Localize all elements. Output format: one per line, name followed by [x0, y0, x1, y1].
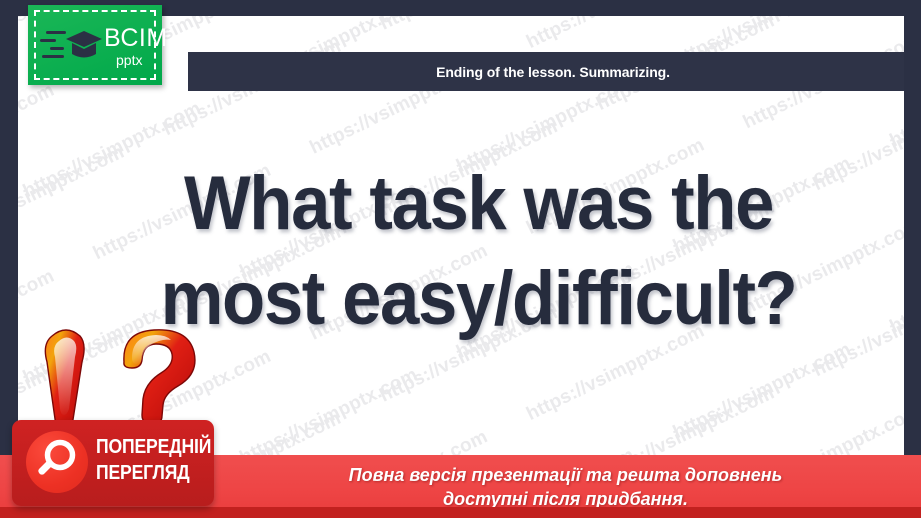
logo-suffix-text: pptx	[116, 52, 168, 68]
graduation-cap-icon	[64, 29, 104, 63]
logo-wordmark: ВСІМ pptx	[104, 25, 168, 68]
presentation-slide: https://vsimpptx.comhttps://vsimpptx.com…	[0, 0, 921, 518]
slide-title-block: What task was the most easy/difficult?	[18, 156, 904, 346]
vsimpptx-logo[interactable]: ВСІМ pptx	[28, 5, 162, 85]
preview-badge-text: ПОПЕРЕДНІЙ ПЕРЕГЛЯД	[96, 434, 195, 486]
slide-title-line-1: What task was the	[50, 156, 904, 251]
speed-lines-icon	[40, 31, 66, 63]
preview-badge-line-2: ПЕРЕГЛЯД	[96, 460, 195, 486]
banner-footer-strip	[0, 507, 921, 518]
logo-brand-text: ВСІМ	[104, 25, 168, 51]
slide-header-title: Ending of the lesson. Summarizing.	[436, 64, 670, 80]
slide-header-bar: Ending of the lesson. Summarizing.	[188, 52, 904, 91]
preview-badge[interactable]: ПОПЕРЕДНІЙ ПЕРЕГЛЯД	[12, 420, 214, 506]
preview-badge-line-1: ПОПЕРЕДНІЙ	[96, 434, 195, 460]
purchase-notice-line-1: Повна версія презентації та решта доповн…	[349, 463, 783, 487]
magnifier-icon	[26, 431, 88, 493]
